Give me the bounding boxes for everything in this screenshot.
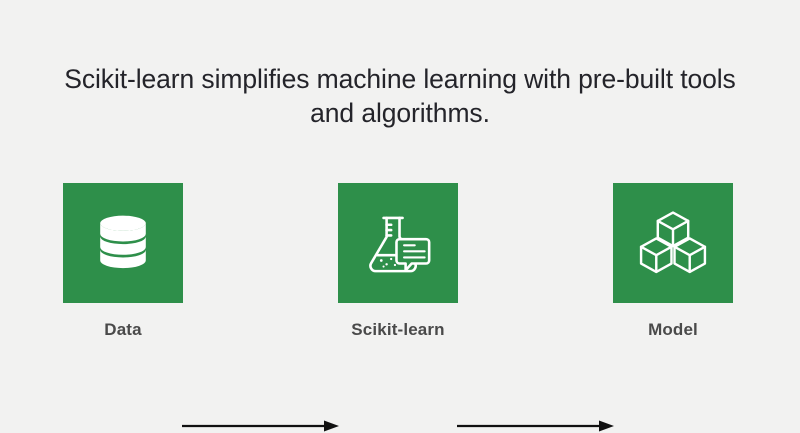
flow-node-model[interactable] — [613, 183, 733, 303]
flow-node-scikit-learn[interactable] — [338, 183, 458, 303]
node-box-data — [63, 183, 183, 303]
node-box-scikit-learn — [338, 183, 458, 303]
page-title: Scikit-learn simplifies machine learning… — [40, 62, 760, 130]
diagram-canvas: Scikit-learn simplifies machine learning… — [0, 0, 800, 400]
flow-arrow-scikit-learn-to-model — [457, 419, 614, 433]
database-icon — [85, 205, 161, 281]
flow-diagram — [0, 183, 800, 303]
cubes-icon — [635, 205, 711, 281]
flow-node-data[interactable] — [63, 183, 183, 303]
flow-node-label-model: Model — [573, 320, 773, 340]
node-box-model — [613, 183, 733, 303]
flow-arrow-data-to-scikit-learn — [182, 419, 339, 433]
flow-node-label-data: Data — [23, 320, 223, 340]
flow-node-label-scikit-learn: Scikit-learn — [298, 320, 498, 340]
flask-chat-icon — [360, 205, 436, 281]
